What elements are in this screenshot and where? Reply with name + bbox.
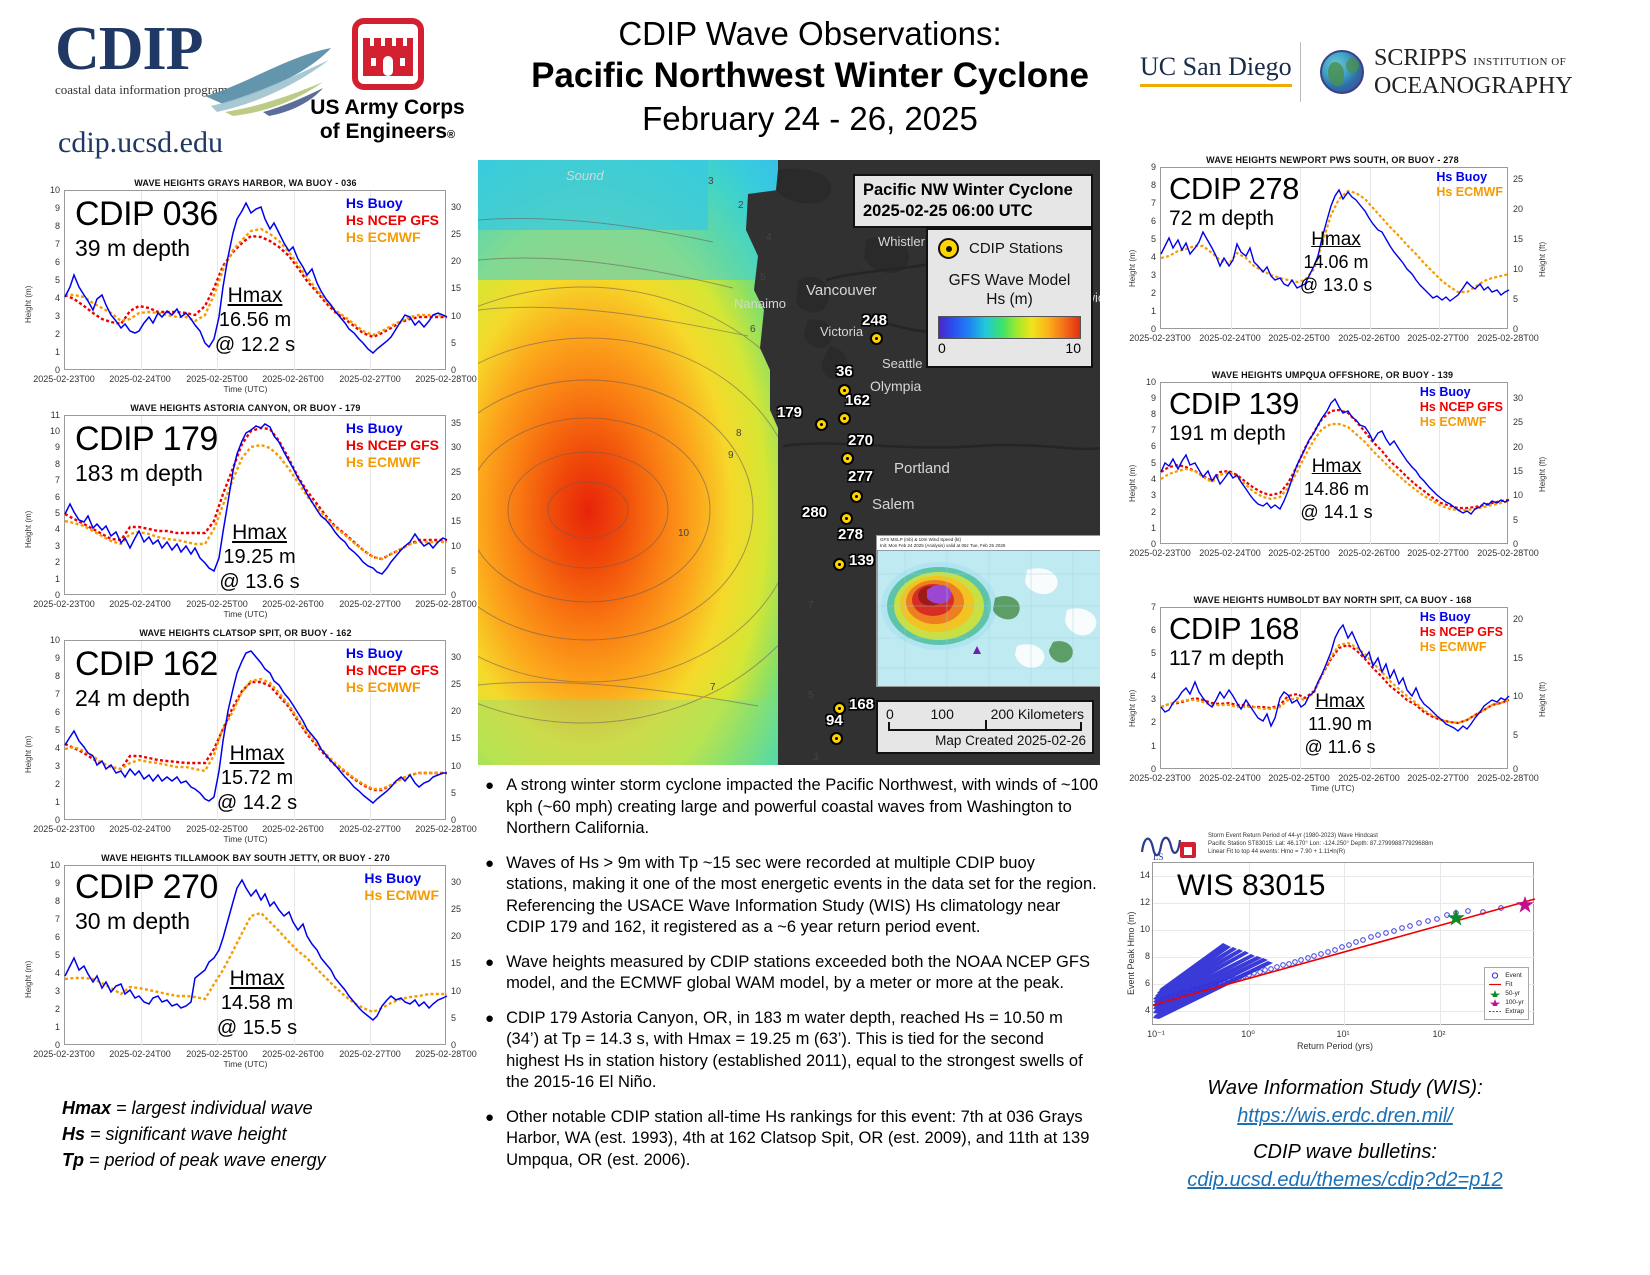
x-tick: 2025-02-27T00 [339,599,401,609]
definition-desc: = largest individual wave [111,1098,313,1118]
legend-gfs: Hs NCEP GFS [1420,625,1503,640]
map-inset-gfs-mslp: GFS MSLP (mb) & 10m Wind Speed (kt) Init… [876,535,1100,687]
usace-registered-mark: ® [447,129,455,141]
depth-label: 72 m depth [1169,206,1274,232]
bullet-dot-icon: ● [485,1107,494,1172]
map-station-179[interactable]: 179 [815,418,828,431]
wis-legend-label: Event [1505,971,1522,980]
city-label: Victoria [820,324,863,339]
legend-buoy: Hs Buoy [364,870,439,887]
usace-line2: of Engineers [320,120,447,143]
x-tick: 2025-02-27T00 [1407,773,1469,783]
scripps-logo: SCRIPPS INSTITUTION OF OCEANOGRAPHY [1320,46,1573,98]
city-label: Nanaimo [734,296,786,311]
city-label: Portland [894,460,950,477]
hmax-period: @ 14.2 s [177,791,337,816]
station-id-label: 270 [848,432,873,449]
scripps-line-1: SCRIPPS INSTITUTION OF [1374,46,1573,74]
wis-plot-area: WIS 83015 Event Fit 50-yr 100-yr [1152,862,1534,1025]
definition-row: Tp = period of peak wave energy [62,1147,326,1173]
x-axis-label: Time (UTC) [18,1059,473,1069]
hmax-value: 14.86 m [1259,478,1414,501]
legend-buoy: Hs Buoy [346,645,439,662]
chart-legend: Hs Buoy Hs ECMWF [1436,170,1503,200]
usace-label: US Army Corps of Engineers® [300,96,475,147]
hmax-annotation: Hmax 14.86 m @ 14.1 s [1259,455,1414,524]
legend-gfs: Hs NCEP GFS [1420,400,1503,415]
globe-icon [1320,50,1364,94]
wis-legend-item: 50-yr [1489,989,1524,998]
x-tick: 2025-02-26T00 [262,824,324,834]
station-label: CDIP 270 [75,870,218,904]
legend-ecmwf: Hs ECMWF [346,679,439,696]
bullet-item: ● CDIP 179 Astoria Canyon, OR, in 183 m … [485,1008,1100,1094]
station-label: CDIP 036 [75,197,218,231]
chart-legend: Hs Buoy Hs NCEP GFS Hs ECMWF [1420,385,1503,430]
map-station-270[interactable]: 270 [841,452,854,465]
chart-legend: Hs Buoy Hs NCEP GFS Hs ECMWF [346,195,439,246]
bullet-text: Other notable CDIP station all-time Hs r… [506,1107,1100,1172]
station-id-label: 278 [838,526,863,543]
map-panel[interactable]: 3 2 4 5 6 8 9 10 7 7 5 3 Sound Whistler … [478,160,1100,765]
wis-legend-label: Extrap [1505,1007,1524,1016]
title-line-3: February 24 - 26, 2025 [500,98,1120,140]
bullet-item: ● A strong winter storm cyclone impacted… [485,775,1100,840]
x-tick: 2025-02-26T00 [1338,333,1400,343]
hmax-value: 14.58 m [177,991,337,1016]
y-axis-label: Height (m) [24,961,33,998]
wis-legend-label: 100-yr [1505,998,1523,1007]
definition-row: Hs = significant wave height [62,1121,326,1147]
map-title-line-1: Pacific NW Winter Cyclone [863,180,1083,201]
definition-desc: = significant wave height [85,1124,287,1144]
x-tick: 2025-02-27T00 [339,824,401,834]
legend-buoy: Hs Buoy [346,420,439,437]
depth-label: 183 m depth [75,460,203,486]
map-station-280[interactable]: 280 [840,512,853,525]
hmax-word: Hmax [1259,455,1414,478]
chart-panel-cdip-162: WAVE HEIGHTS CLATSOP SPIT, OR BUOY - 162… [18,628,473,848]
plot-area: CDIP 162 24 m depth Hs Buoy Hs NCEP GFS … [64,640,446,820]
station-id-label: 139 [849,552,874,569]
x-tick: 2025-02-26T00 [262,599,324,609]
depth-label: 24 m depth [75,685,190,711]
depth-label: 191 m depth [1169,421,1286,447]
scripps-institution-of: INSTITUTION OF [1473,56,1566,68]
hmax-word: Hmax [177,520,342,545]
inset-caption-line-2: Init: Mon Feb 24 2025 (Analysis) valid a… [880,543,1100,549]
x-tick: 2025-02-28T00 [1477,548,1539,558]
wis-logo-icon: LS [1140,830,1202,862]
station-id-label: 179 [777,404,802,421]
hmax-value: 11.90 m [1265,713,1415,736]
hmax-period: @ 15.5 s [177,1016,337,1041]
wis-header-text: Storm Event Return Period of 44-yr (1980… [1208,832,1538,856]
x-tick: 2025-02-24T00 [109,1049,171,1059]
hmax-word: Hmax [177,741,337,766]
plot-area: CDIP 278 72 m depth Hs Buoy Hs ECMWF Hma… [1160,167,1508,329]
station-label: CDIP 139 [1169,387,1299,421]
chart-legend: Hs Buoy Hs NCEP GFS Hs ECMWF [346,645,439,696]
legend-stations-label: CDIP Stations [969,240,1063,257]
x-tick: 2025-02-26T00 [1338,773,1400,783]
legend-buoy: Hs Buoy [346,195,439,212]
definitions-block: Hmax = largest individual wave Hs = sign… [62,1095,326,1173]
wis-legend-label: 50-yr [1505,989,1520,998]
legend-ecmwf: Hs ECMWF [1420,415,1503,430]
legend-ecmwf: Hs ECMWF [1420,640,1503,655]
hmax-annotation: Hmax 16.56 m @ 12.2 s [175,283,335,358]
chart-title: WAVE HEIGHTS HUMBOLDT BAY NORTH SPIT, CA… [1120,595,1545,605]
station-id-label: 280 [802,504,827,521]
usace-logo: US Army Corps of Engineers® [300,18,475,147]
plot-area: CDIP 139 191 m depth Hs Buoy Hs NCEP GFS… [1160,382,1508,544]
x-tick: 2025-02-25T00 [186,824,248,834]
depth-label: 39 m depth [75,235,190,261]
bullet-list: ● A strong winter storm cyclone impacted… [485,775,1100,1184]
scripps-word: SCRIPPS [1374,45,1467,71]
bullet-dot-icon: ● [485,952,494,995]
bulletin-footer-label: CDIP wave bulletins: [1120,1139,1570,1166]
wis-x-axis-label: Return Period (yrs) [1120,1041,1550,1051]
x-tick: 2025-02-27T00 [339,1049,401,1059]
legend-buoy: Hs Buoy [1436,170,1503,185]
x-tick: 2025-02-23T00 [33,1049,95,1059]
x-tick: 2025-02-26T00 [1338,548,1400,558]
x-tick: 2025-02-24T00 [109,824,171,834]
x-tick: 2025-02-24T00 [109,374,171,384]
city-label: Olympia [870,378,921,394]
wis-x-tick: 10¹ [1336,1029,1349,1039]
map-title-line-2: 2025-02-25 06:00 UTC [863,201,1083,222]
hmax-value: 14.06 m [1261,251,1411,274]
station-label: CDIP 179 [75,422,218,456]
map-station-139[interactable]: 139 [833,558,846,571]
map-station-277[interactable]: 277 [850,490,863,503]
x-tick: 2025-02-26T00 [262,374,324,384]
hmax-annotation: Hmax 15.72 m @ 14.2 s [177,741,337,816]
bullet-dot-icon: ● [485,775,494,840]
bullet-item: ● Waves of Hs > 9m with Tp ~15 sec were … [485,853,1100,939]
map-legend-box: CDIP Stations GFS Wave Model Hs (m) 0 10 [926,228,1093,368]
bullet-item: ● Other notable CDIP station all-time Hs… [485,1107,1100,1172]
hmax-value: 16.56 m [175,308,335,333]
x-tick: 2025-02-25T00 [186,1049,248,1059]
scale-200: 200 Kilometers [991,706,1084,722]
ucsd-wordmark: UC San Diego [1140,52,1292,87]
x-tick: 2025-02-24T00 [1199,773,1261,783]
title-line-2: Pacific Northwest Winter Cyclone [500,54,1120,98]
chart-panel-cdip-270: WAVE HEIGHTS TILLAMOOK BAY SOUTH JETTY, … [18,853,473,1073]
hmax-period: @ 12.2 s [175,333,335,358]
legend-gfs: Hs NCEP GFS [346,662,439,679]
map-station-94[interactable]: 94 [830,732,843,745]
hmax-annotation: Hmax 14.06 m @ 13.0 s [1261,228,1411,297]
hmax-word: Hmax [1261,228,1411,251]
hs-colorbar [938,316,1081,339]
chart-panel-cdip-139: WAVE HEIGHTS UMPQUA OFFSHORE, OR BUOY - … [1120,370,1545,570]
chart-legend: Hs Buoy Hs NCEP GFS Hs ECMWF [1420,610,1503,655]
wis-station-label: WIS 83015 [1177,869,1325,903]
city-label: Whistler [878,234,925,249]
depth-label: 117 m depth [1169,646,1284,672]
bullet-item: ● Wave heights measured by CDIP stations… [485,952,1100,995]
hmax-word: Hmax [175,283,335,308]
y-axis-label: Height (m) [24,286,33,323]
poster-title: CDIP Wave Observations: Pacific Northwes… [500,14,1120,140]
x-tick: 2025-02-25T00 [1268,773,1330,783]
x-tick: 2025-02-25T00 [1268,333,1330,343]
plot-area: CDIP 179 183 m depth Hs Buoy Hs NCEP GFS… [64,415,446,595]
hmax-period: @ 14.1 s [1259,501,1414,524]
x-tick: 2025-02-26T00 [262,1049,324,1059]
hmax-period: @ 13.0 s [1261,274,1411,297]
legend-model-line-2: Hs (m) [938,290,1081,309]
chart-legend: Hs Buoy Hs ECMWF [364,870,439,904]
plot-area: CDIP 168 117 m depth Hs Buoy Hs NCEP GFS… [1160,607,1508,769]
cdip-url-text: cdip.ucsd.edu [58,126,223,160]
usace-line1: US Army Corps [310,96,464,119]
x-axis-label: Time (UTC) [18,834,473,844]
legend-ecmwf: Hs ECMWF [346,454,439,471]
chart-title: WAVE HEIGHTS UMPQUA OFFSHORE, OR BUOY - … [1120,370,1545,380]
scale-0: 0 [886,706,894,722]
hmax-value: 15.72 m [177,766,337,791]
title-line-1: CDIP Wave Observations: [500,14,1120,54]
wis-x-tick: 10² [1432,1029,1445,1039]
hmax-word: Hmax [1265,690,1415,713]
station-label: CDIP 162 [75,647,218,681]
definition-term: Tp [62,1150,84,1170]
x-tick: 2025-02-24T00 [1199,548,1261,558]
definition-desc: = period of peak wave energy [84,1150,326,1170]
definition-term: Hmax [62,1098,111,1118]
cdip-station-marker-icon [938,238,959,259]
depth-label: 30 m depth [75,908,190,934]
legend-stations-row: CDIP Stations [938,238,1081,259]
legend-buoy: Hs Buoy [1420,385,1503,400]
colorbar-min: 0 [938,340,946,356]
scale-bar-rule [888,722,1082,731]
plot-area: CDIP 036 39 m depth Hs Buoy Hs NCEP GFS … [64,190,446,370]
city-label: Vancouver [806,282,877,299]
map-created-date: Map Created 2025-02-26 [884,733,1086,748]
bullet-dot-icon: ● [485,1008,494,1094]
scripps-line-2: OCEANOGRAPHY [1374,74,1573,98]
chart-panel-cdip-168: WAVE HEIGHTS HUMBOLDT BAY NORTH SPIT, CA… [1120,595,1545,810]
x-tick: 2025-02-23T00 [1129,548,1191,558]
wis-legend-label: Fit [1505,980,1512,989]
station-id-label: 162 [845,392,870,409]
x-tick: 2025-02-23T00 [33,599,95,609]
bullet-text: Waves of Hs > 9m with Tp ~15 sec were re… [506,853,1100,939]
wis-footer-label: Wave Information Study (WIS): [1120,1075,1570,1102]
station-id-label: 248 [862,312,887,329]
x-tick: 2025-02-23T00 [1129,773,1191,783]
footer-links: Wave Information Study (WIS): https://wi… [1120,1075,1570,1195]
definition-row: Hmax = largest individual wave [62,1095,326,1121]
wis-x-tick: 10⁰ [1241,1029,1255,1040]
definition-term: Hs [62,1124,85,1144]
hmax-period: @ 13.6 s [177,570,342,595]
colorbar-labels: 0 10 [938,340,1081,356]
station-id-label: 277 [848,468,873,485]
usace-castle-icon [352,18,424,90]
station-id-label: 168 [849,696,874,713]
hmax-annotation: Hmax 14.58 m @ 15.5 s [177,966,337,1041]
legend-buoy: Hs Buoy [1420,610,1503,625]
plot-area: CDIP 270 30 m depth Hs Buoy Hs ECMWF Hma… [64,865,446,1045]
y-axis-label-right: Height (ft) [1538,242,1547,277]
x-axis-label: Time (UTC) [1120,783,1545,793]
x-tick: 2025-02-28T00 [415,1049,477,1059]
colorbar-max: 10 [1065,340,1081,356]
chart-title: WAVE HEIGHTS NEWPORT PWS SOUTH, OR BUOY … [1120,155,1545,165]
hmax-word: Hmax [177,966,337,991]
bullet-dot-icon: ● [485,853,494,939]
chart-title: WAVE HEIGHTS CLATSOP SPIT, OR BUOY - 162 [18,628,473,638]
wis-header-line-1: Storm Event Return Period of 44-yr (1980… [1208,832,1538,840]
svg-text:LS: LS [1153,852,1164,862]
x-tick: 2025-02-24T00 [1199,333,1261,343]
x-tick: 2025-02-28T00 [415,599,477,609]
wis-header-line-2: Pacific Station ST83015: Lat: 46.170° Lo… [1208,840,1538,848]
chart-title: WAVE HEIGHTS ASTORIA CANYON, OR BUOY - 1… [18,403,473,413]
x-tick: 2025-02-23T00 [33,824,95,834]
x-tick: 2025-02-25T00 [1268,548,1330,558]
legend-model-title: GFS Wave Model Hs (m) [938,271,1081,309]
x-tick: 2025-02-28T00 [415,824,477,834]
y-axis-label-right: Height (ft) [1538,682,1547,717]
chart-panel-cdip-036: WAVE HEIGHTS GRAYS HARBOR, WA BUOY - 036… [18,178,473,398]
x-tick: 2025-02-23T00 [1129,333,1191,343]
scale-100: 100 [931,706,954,722]
wis-header-line-3: Linear Fit to top 44 events: Hmo = 7.90 … [1208,848,1538,856]
chart-panel-cdip-179: WAVE HEIGHTS ASTORIA CANYON, OR BUOY - 1… [18,403,473,623]
station-id-label: 94 [826,712,843,729]
map-scale-bar: 0 100 200 Kilometers Map Created 2025-02… [876,700,1094,754]
station-label: CDIP 168 [1169,612,1299,646]
map-station-162[interactable]: 162 [838,412,851,425]
hmax-period: @ 11.6 s [1265,736,1415,759]
x-tick: 2025-02-25T00 [186,374,248,384]
x-tick: 2025-02-28T00 [415,374,477,384]
chart-panel-wis-83015: LS Storm Event Return Period of 44-yr (1… [1120,820,1550,1065]
x-tick: 2025-02-28T00 [1477,333,1539,343]
legend-ecmwf: Hs ECMWF [364,887,439,904]
y-axis-label-right: Height (ft) [1538,457,1547,492]
legend-ecmwf: Hs ECMWF [1436,185,1503,200]
ucsd-logo: UC San Diego [1140,52,1292,87]
wis-footer-link[interactable]: https://wis.erdc.dren.mil/ [1120,1102,1570,1131]
station-id-label: 36 [836,363,853,380]
x-axis-label: Time (UTC) [18,384,473,394]
hmax-annotation: Hmax 11.90 m @ 11.6 s [1265,690,1415,759]
x-tick: 2025-02-27T00 [1407,333,1469,343]
y-axis-label: Height (m) [24,736,33,773]
x-tick: 2025-02-27T00 [339,374,401,384]
x-tick: 2025-02-25T00 [186,599,248,609]
map-station-248[interactable]: 248 [870,332,883,345]
inset-figure [877,550,1100,687]
wis-legend: Event Fit 50-yr 100-yr Extrap [1484,967,1529,1020]
wis-legend-item: Fit [1489,980,1524,989]
chart-title: WAVE HEIGHTS GRAYS HARBOR, WA BUOY - 036 [18,178,473,188]
poster-root: CDIP coastal data information program cd… [0,0,1650,1275]
chart-legend: Hs Buoy Hs NCEP GFS Hs ECMWF [346,420,439,471]
bullet-text: CDIP 179 Astoria Canyon, OR, in 183 m wa… [506,1008,1100,1094]
x-axis-label: Time (UTC) [18,609,473,619]
chart-panel-cdip-278: WAVE HEIGHTS NEWPORT PWS SOUTH, OR BUOY … [1120,155,1545,355]
x-tick: 2025-02-27T00 [1407,548,1469,558]
city-label: Salem [872,496,915,513]
logo-divider [1300,42,1301,102]
wis-legend-item: Event [1489,971,1524,980]
bullet-text: Wave heights measured by CDIP stations e… [506,952,1100,995]
legend-model-line-1: GFS Wave Model [938,271,1081,290]
legend-gfs: Hs NCEP GFS [346,437,439,454]
bulletin-footer-link[interactable]: cdip.ucsd.edu/themes/cdip?d2=p12 [1120,1166,1570,1195]
bullet-text: A strong winter storm cyclone impacted t… [506,775,1100,840]
cdip-logo: CDIP coastal data information program [55,18,285,138]
city-label: Sound [566,168,604,183]
wis-legend-item: 100-yr [1489,998,1524,1007]
chart-title: WAVE HEIGHTS TILLAMOOK BAY SOUTH JETTY, … [18,853,473,863]
wis-x-tick: 10⁻¹ [1147,1029,1165,1040]
station-label: CDIP 278 [1169,172,1299,206]
map-title-box: Pacific NW Winter Cyclone 2025-02-25 06:… [853,174,1093,228]
x-tick: 2025-02-23T00 [33,374,95,384]
legend-ecmwf: Hs ECMWF [346,229,439,246]
x-tick: 2025-02-24T00 [109,599,171,609]
legend-gfs: Hs NCEP GFS [346,212,439,229]
hmax-value: 19.25 m [177,545,342,570]
x-tick: 2025-02-28T00 [1477,773,1539,783]
inset-caption: GFS MSLP (mb) & 10m Wind Speed (kt) Init… [877,536,1100,550]
y-axis-label: Height (m) [24,511,33,548]
city-label: Seattle [882,356,922,371]
wis-legend-item: Extrap [1489,1007,1524,1016]
hmax-annotation: Hmax 19.25 m @ 13.6 s [177,520,342,595]
